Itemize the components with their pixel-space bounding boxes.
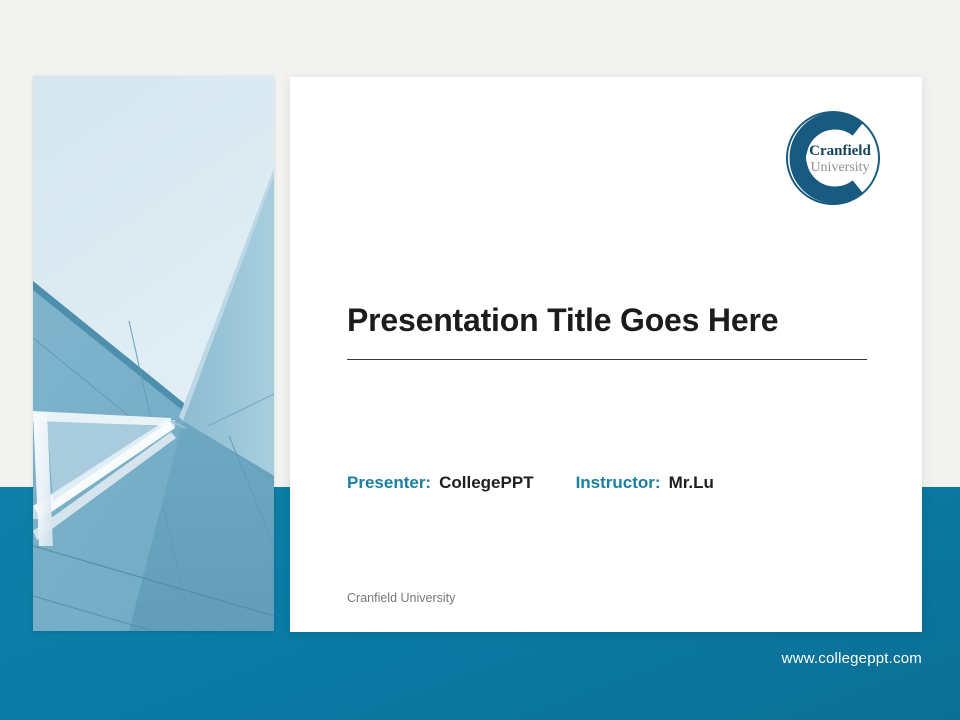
page-title: Presentation Title Goes Here bbox=[347, 302, 867, 339]
instructor-label: Instructor: bbox=[576, 473, 661, 493]
logo-wordmark-line2: University bbox=[810, 160, 869, 175]
cranfield-university-logo-icon: Cranfield University bbox=[784, 109, 882, 207]
title-divider bbox=[347, 359, 867, 360]
site-url-text: www.collegeppt.com bbox=[782, 650, 922, 667]
logo-wordmark-line1: Cranfield bbox=[809, 143, 871, 159]
instructor-value: Mr.Lu bbox=[669, 473, 714, 493]
title-block: Presentation Title Goes Here bbox=[347, 302, 867, 360]
presenter-label: Presenter: bbox=[347, 473, 431, 493]
instructor-group: Instructor: Mr.Lu bbox=[576, 473, 714, 493]
card-footer-text: Cranfield University bbox=[347, 591, 455, 605]
slide-content-card: Cranfield University Presentation Title … bbox=[290, 77, 922, 632]
architecture-photo bbox=[33, 76, 274, 631]
presentation-meta-row: Presenter: CollegePPT Instructor: Mr.Lu bbox=[347, 473, 714, 493]
presenter-value: CollegePPT bbox=[439, 473, 533, 493]
presentation-slide: www.collegeppt.com bbox=[0, 0, 960, 720]
presenter-group: Presenter: CollegePPT bbox=[347, 473, 534, 493]
